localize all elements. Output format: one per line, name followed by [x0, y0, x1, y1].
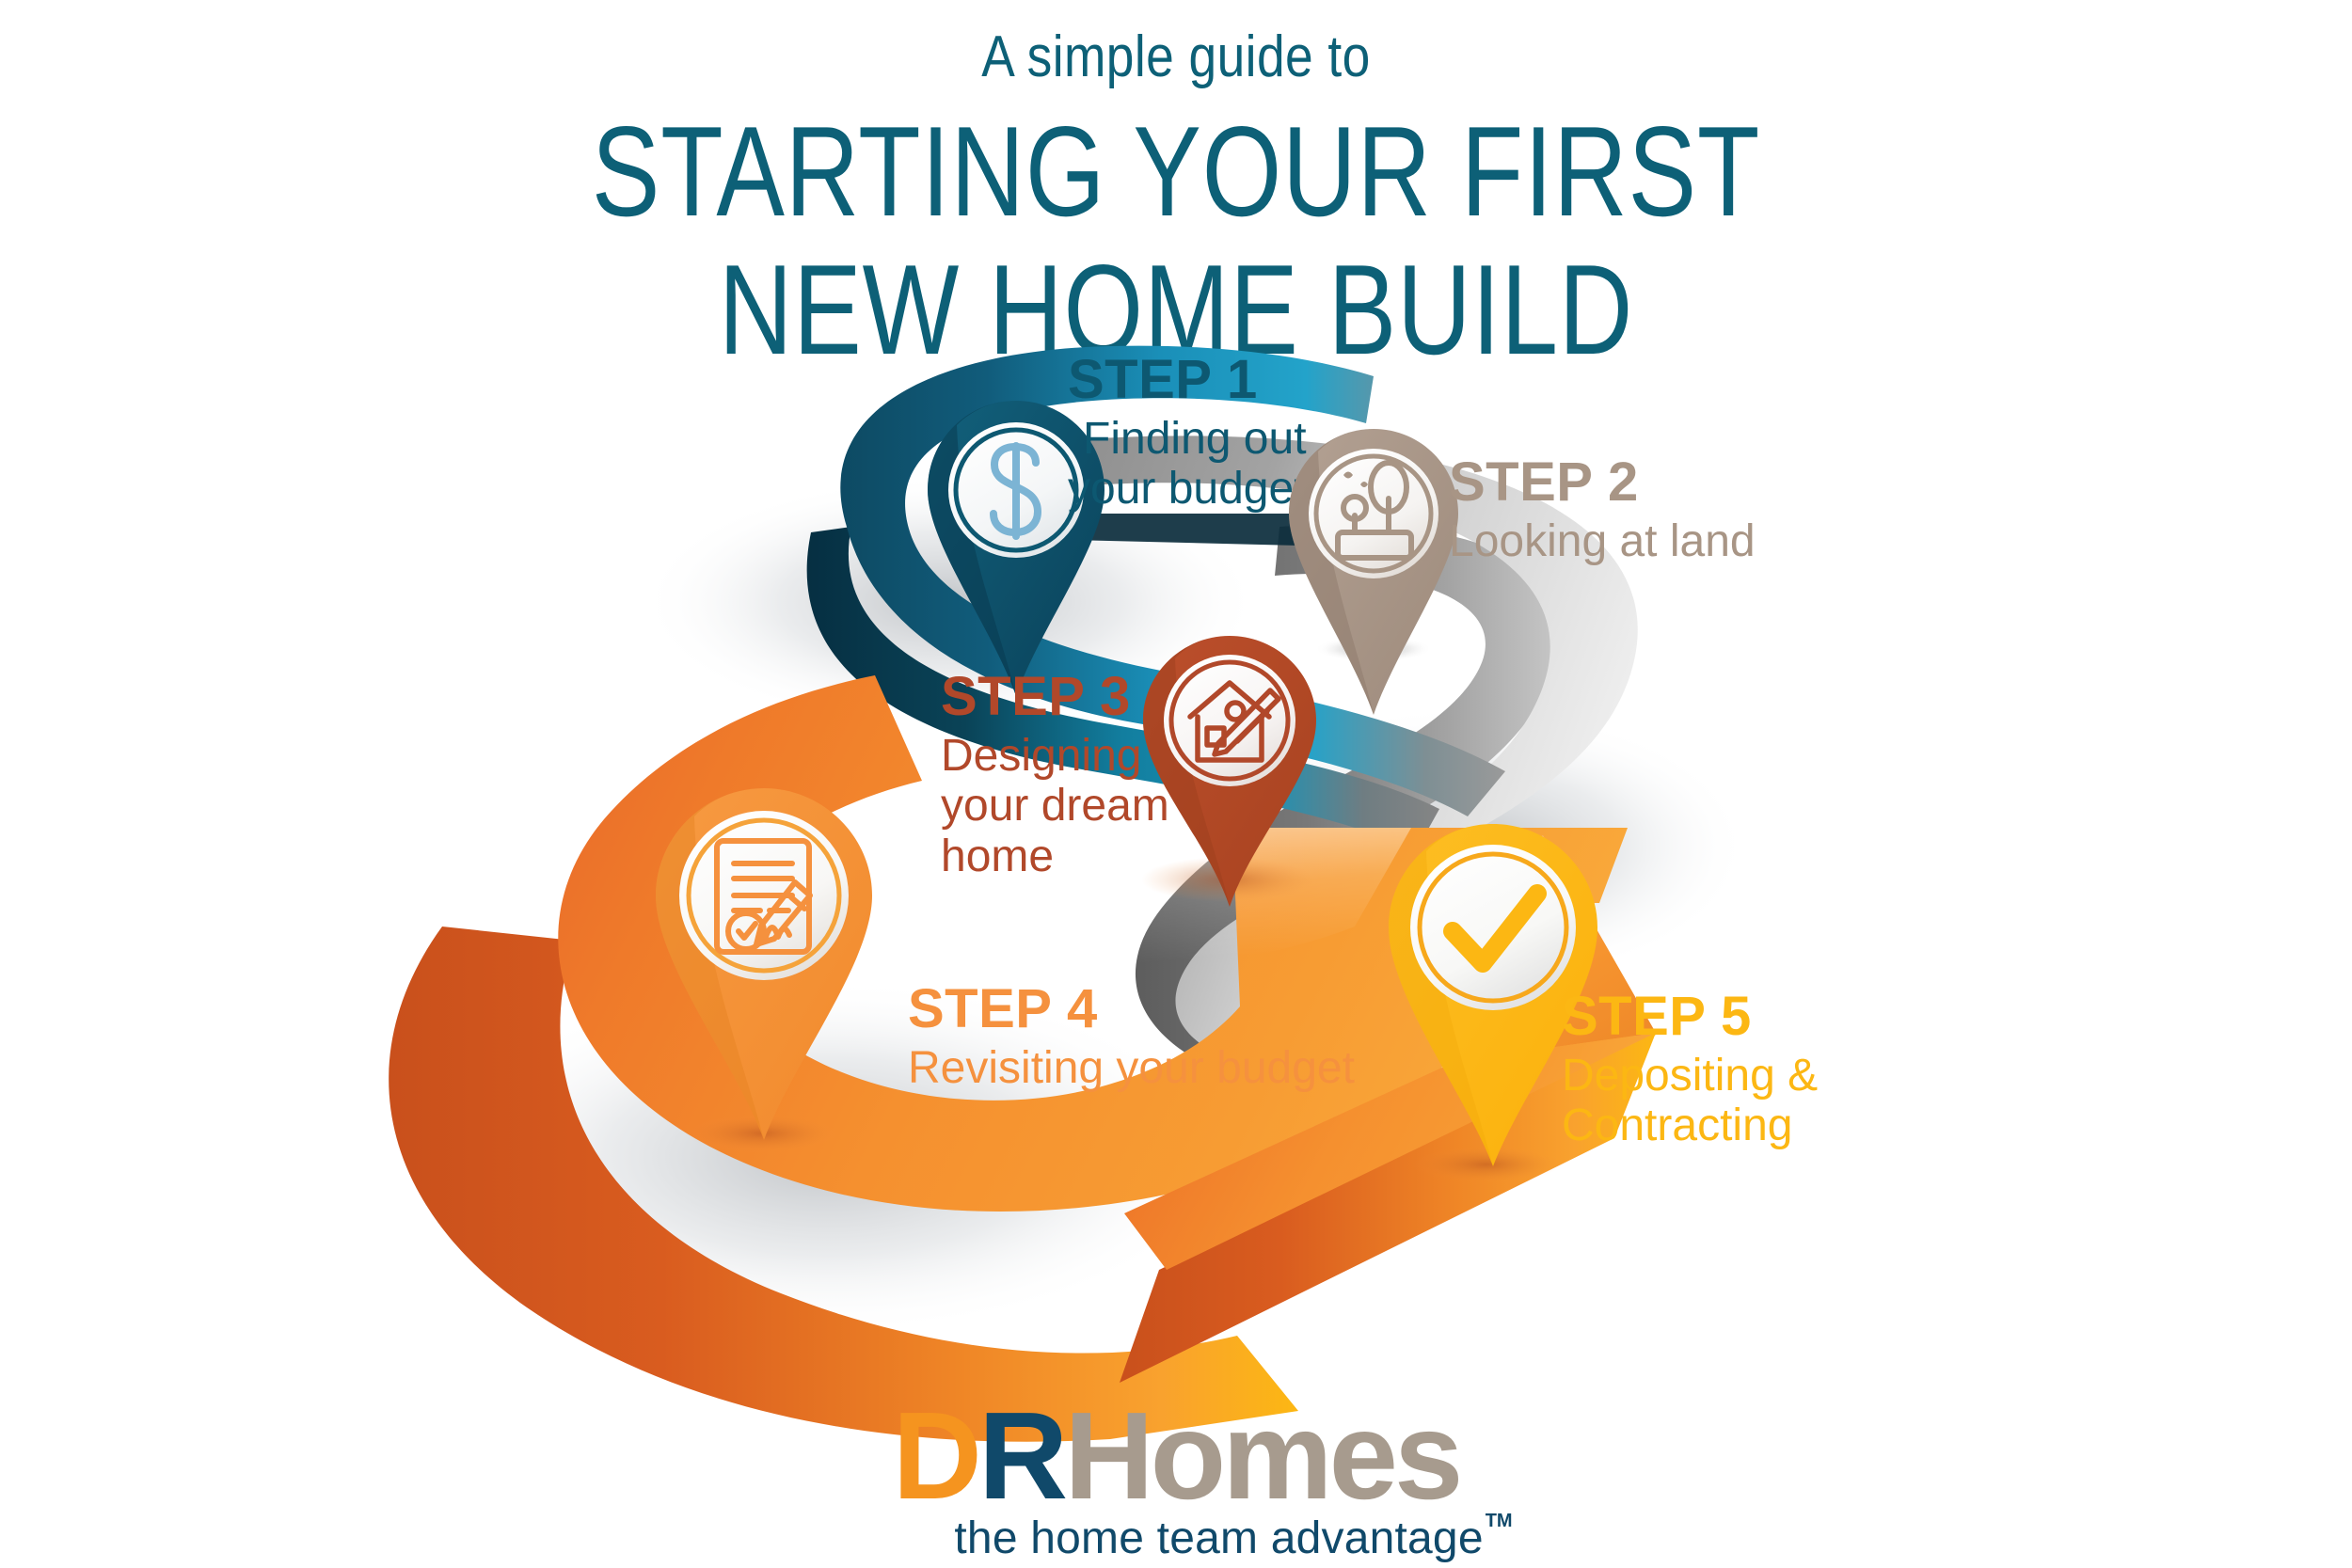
step-1-desc-line-2: your budget	[1068, 464, 1307, 514]
step-4-title: STEP 4	[908, 980, 1355, 1039]
step-1-desc-line-1: Finding out	[1083, 414, 1307, 464]
step-3-desc: Designing your dream home	[941, 731, 1169, 882]
step-2-text: STEP 2 Looking at land	[1449, 453, 1756, 566]
step-1-title: STEP 1	[1068, 351, 1307, 410]
step-5-text: STEP 5 Depositing & Contracting	[1562, 988, 1818, 1151]
step-3-text: STEP 3 Designing your dream home	[941, 668, 1169, 882]
logo-word-homes: Homes	[1064, 1394, 1459, 1518]
step-4-desc: Revisiting your budget	[908, 1043, 1355, 1094]
step-3-desc-line-1: Designing	[941, 731, 1141, 781]
header-kicker: A simple guide to	[165, 26, 2187, 87]
pin-inner-circle	[1410, 845, 1576, 1010]
step-5-desc-line-2: Contracting	[1562, 1101, 1792, 1150]
logo-tagline-wrap: the home team advantageTM	[954, 1513, 1510, 1564]
logo-letter-d: D	[893, 1394, 978, 1518]
logo-tagline: the home team advantage	[954, 1513, 1483, 1563]
brand-logo[interactable]: DRHomes the home team advantageTM	[0, 1394, 2352, 1564]
step-2-title: STEP 2	[1449, 453, 1756, 513]
step-4-text: STEP 4 Revisiting your budget	[908, 980, 1355, 1093]
logo-wordmark: DRHomes	[0, 1394, 2352, 1518]
step-3-desc-line-2: your dream	[941, 781, 1169, 831]
title-line-1: STARTING YOUR FIRST	[592, 100, 1760, 243]
logo-letter-r: R	[978, 1394, 1064, 1518]
step-5-desc: Depositing & Contracting	[1562, 1051, 1818, 1152]
page-title: STARTING YOUR FIRST NEW HOME BUILD	[235, 103, 2117, 379]
step-3-title: STEP 3	[941, 668, 1169, 727]
step-1-text: STEP 1 Finding out your budget	[1068, 351, 1307, 515]
step-1-desc: Finding out your budget	[1068, 414, 1307, 515]
step-4-pin[interactable]	[649, 781, 880, 1148]
step-3-desc-line-3: home	[941, 832, 1054, 881]
step-2-desc: Looking at land	[1449, 516, 1756, 567]
infographic-canvas: A simple guide to STARTING YOUR FIRST NE…	[0, 0, 2352, 1568]
step-5-title: STEP 5	[1562, 988, 1818, 1047]
header: A simple guide to STARTING YOUR FIRST NE…	[0, 26, 2352, 379]
step-5-desc-line-1: Depositing &	[1562, 1051, 1818, 1101]
trademark-symbol: TM	[1486, 1511, 1513, 1531]
